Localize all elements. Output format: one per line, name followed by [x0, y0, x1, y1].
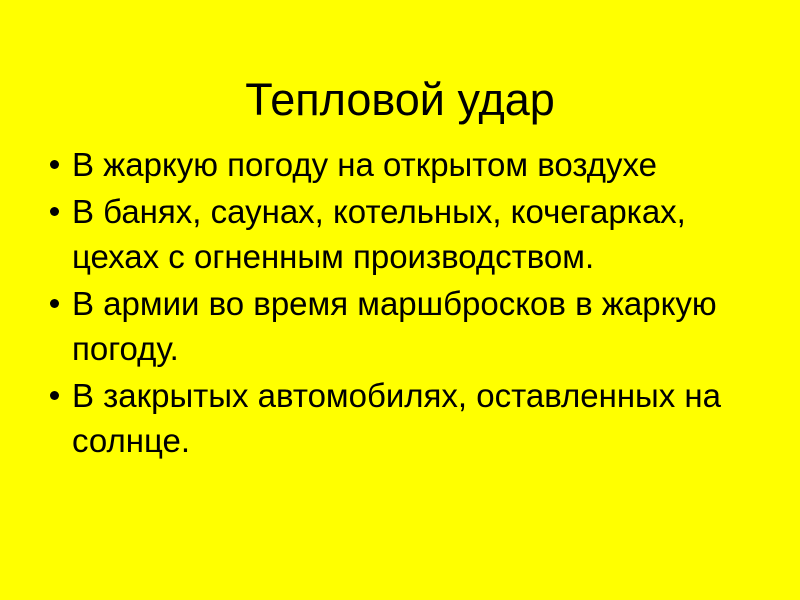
list-item: В банях, саунах, котельных, кочегарках, … [46, 189, 752, 279]
list-item-label: В банях, саунах, котельных, кочегарках, … [72, 189, 752, 279]
list-item-label: В жаркую погоду на открытом воздухе [72, 142, 752, 187]
list-item: В армии во время маршбросков в жаркую по… [46, 281, 752, 371]
bullet-dot-icon [50, 160, 59, 169]
bullet-list: В жаркую погоду на открытом воздухе В ба… [46, 142, 752, 465]
bullet-dot-icon [50, 207, 59, 216]
slide-canvas: Тепловой удар В жаркую погоду на открыто… [0, 0, 800, 600]
list-item: В закрытых автомобилях, оставленных на с… [46, 373, 752, 463]
list-item-label: В армии во время маршбросков в жаркую по… [72, 281, 752, 371]
bullet-dot-icon [50, 299, 59, 308]
list-item-label: В закрытых автомобилях, оставленных на с… [72, 373, 752, 463]
list-item: В жаркую погоду на открытом воздухе [46, 142, 752, 187]
bullet-dot-icon [50, 391, 59, 400]
page-title: Тепловой удар [0, 74, 800, 126]
